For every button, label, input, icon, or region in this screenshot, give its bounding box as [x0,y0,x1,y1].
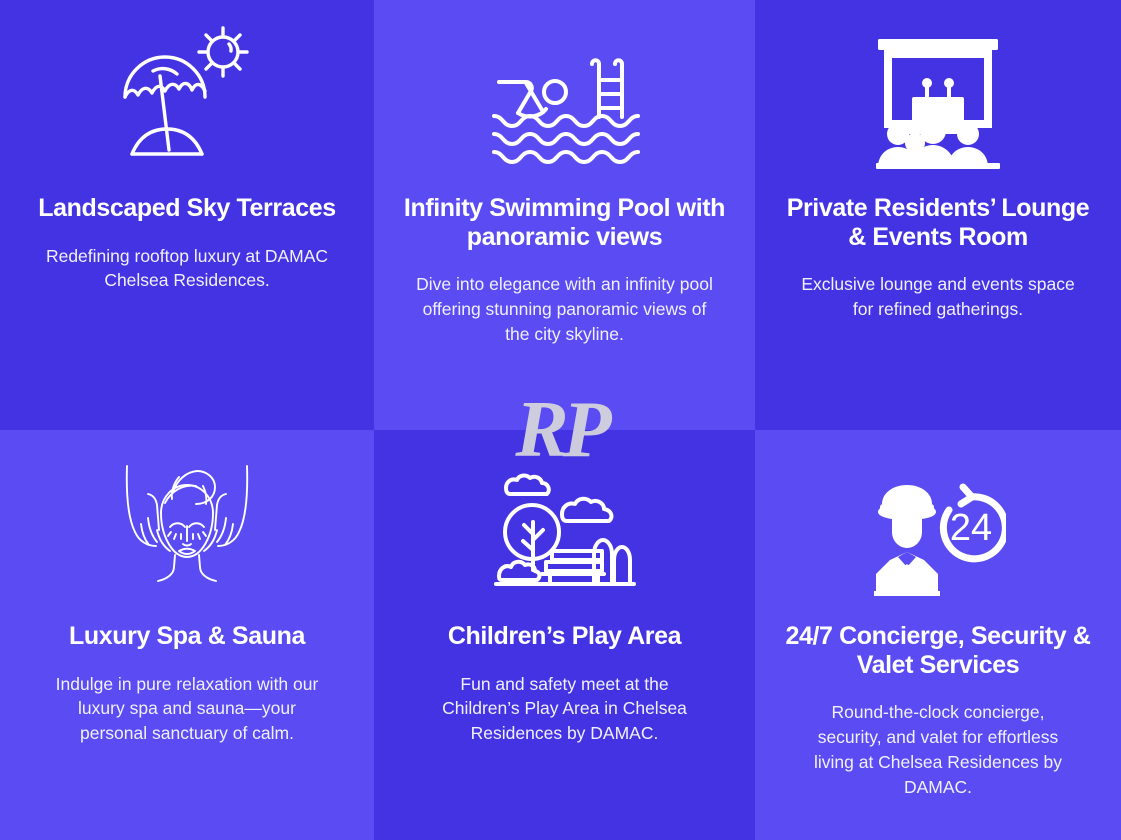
amenity-title: Private Residents’ Lounge & Events Room [781,194,1095,251]
amenity-description: Indulge in pure relaxation with our luxu… [43,672,331,747]
beach-umbrella-sun-icon [26,18,348,170]
amenity-title: Infinity Swimming Pool with panoramic vi… [400,194,729,251]
amenity-card-residents-lounge-events-room[interactable]: Private Residents’ Lounge & Events Room … [755,0,1121,430]
amenity-title: Children’s Play Area [448,622,681,651]
amenity-title: Luxury Spa & Sauna [69,622,305,651]
amenity-description: Round-the-clock concierge, security, and… [803,700,1073,799]
amenity-title: 24/7 Concierge, Security & Valet Service… [781,622,1095,679]
amenity-card-landscaped-sky-terraces[interactable]: Landscaped Sky Terraces Redefining rooft… [0,0,374,430]
amenity-description: Dive into elegance with an infinity pool… [415,272,715,347]
amenity-card-luxury-spa-sauna[interactable]: Luxury Spa & Sauna Indulge in pure relax… [0,430,374,840]
amenities-grid: Landscaped Sky Terraces Redefining rooft… [0,0,1121,840]
amenity-card-concierge-security-valet[interactable]: 24 24/7 Concierge, Security & Valet Serv… [755,430,1121,840]
svg-text:24: 24 [950,507,992,549]
spa-facial-massage-icon [26,454,348,596]
amenity-card-infinity-swimming-pool[interactable]: Infinity Swimming Pool with panoramic vi… [374,0,755,430]
amenity-card-childrens-play-area[interactable]: Children’s Play Area Fun and safety meet… [374,430,755,840]
park-playground-icon [400,454,729,596]
swimming-pool-icon [400,18,729,170]
amenity-description: Redefining rooftop luxury at DAMAC Chels… [37,244,337,294]
concierge-24-icon: 24 [781,454,1095,596]
amenity-description: Exclusive lounge and events space for re… [790,272,1086,322]
amenity-title: Landscaped Sky Terraces [38,194,335,223]
presentation-audience-icon [781,18,1095,170]
amenity-description: Fun and safety meet at the Children’s Pl… [420,672,710,747]
